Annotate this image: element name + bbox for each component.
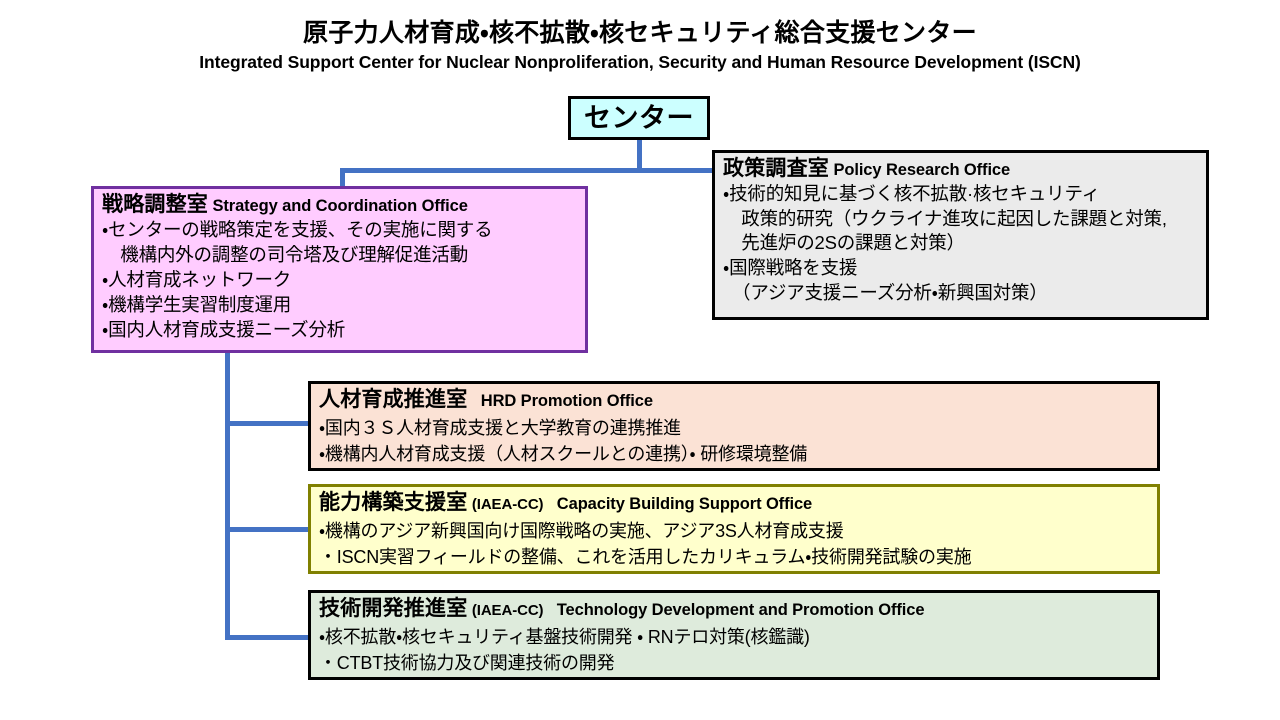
list-item: 政策的研究（ウクライナ進攻に起因した課題と対策, [723, 207, 1200, 232]
list-item: ・人材育成ネットワーク [102, 268, 579, 293]
node-policy-title-ja: 政策調査室 [723, 157, 829, 180]
node-hrd-title-en: HRD Promotion Office [481, 392, 653, 410]
node-policy-title-en: Policy Research Office [833, 161, 1010, 179]
node-hrd-promotion-office[interactable]: 人材育成推進室 HRD Promotion Office ・国内３Ｓ人材育成支援… [308, 381, 1160, 471]
node-capacity-building-support-office[interactable]: 能力構築支援室 (IAEA-CC) Capacity Building Supp… [308, 484, 1160, 574]
list-item: ・国内人材育成支援ニーズ分析 [102, 318, 579, 343]
connector-to-capacity [225, 527, 310, 532]
connector-to-tech [225, 635, 310, 640]
node-hrd-bullets: ・国内３Ｓ人材育成支援と大学教育の連携推進 ・機構内人材育成支援（人材スクールと… [319, 415, 1151, 467]
node-strategy-header: 戦略調整室 Strategy and Coordination Office [102, 193, 579, 217]
node-strategy-coordination-office[interactable]: 戦略調整室 Strategy and Coordination Office ・… [91, 186, 588, 353]
node-capacity-bullets: ・機構のアジア新興国向け国際戦略の実施、アジア3S人材育成支援 ・ISCN実習フ… [319, 518, 1151, 570]
node-strategy-title-en: Strategy and Coordination Office [212, 197, 467, 215]
list-item: ・核不拡散・核セキュリティ基盤技術開発 ・ RNテロ対策(核鑑識) [319, 624, 1151, 650]
node-technology-development-promotion-office[interactable]: 技術開発推進室 (IAEA-CC) Technology Development… [308, 590, 1160, 680]
node-strategy-bullets: ・センターの戦略策定を支援、その実施に関する 機構内外の調整の司令塔及び理解促進… [102, 218, 579, 343]
node-center[interactable]: センター [568, 96, 710, 140]
node-capacity-title-sub: (IAEA-CC) [472, 496, 544, 513]
node-capacity-header: 能力構築支援室 (IAEA-CC) Capacity Building Supp… [319, 491, 1151, 515]
list-item: ・機構内人材育成支援（人材スクールとの連携）・ 研修環境整備 [319, 441, 1151, 467]
connector-horizontal-spine [340, 168, 715, 173]
title-english: Integrated Support Center for Nuclear No… [0, 52, 1280, 74]
list-item: ・ISCN実習フィールドの整備、これを活用したカリキュラム・技術開発試験の実施 [319, 544, 1151, 570]
node-strategy-title-ja: 戦略調整室 [102, 193, 208, 216]
connector-trunk-vertical [225, 353, 230, 640]
node-capacity-title-ja: 能力構築支援室 [319, 491, 467, 514]
node-tech-bullets: ・核不拡散・核セキュリティ基盤技術開発 ・ RNテロ対策(核鑑識) ・CTBT技… [319, 624, 1151, 676]
node-tech-title-ja: 技術開発推進室 [319, 597, 467, 620]
chart-header: 原子力人材育成・核不拡散・核セキュリティ総合支援センター Integrated … [0, 18, 1280, 74]
list-item: ・機構のアジア新興国向け国際戦略の実施、アジア3S人材育成支援 [319, 518, 1151, 544]
node-policy-bullets: ・技術的知見に基づく核不拡散·核セキュリティ 政策的研究（ウクライナ進攻に起因し… [723, 182, 1200, 305]
list-item: 機構内外の調整の司令塔及び理解促進活動 [102, 243, 579, 268]
node-hrd-header: 人材育成推進室 HRD Promotion Office [319, 388, 1151, 412]
list-item: ・技術的知見に基づく核不拡散·核セキュリティ [723, 182, 1200, 207]
node-capacity-title-en: Capacity Building Support Office [557, 495, 812, 513]
list-item: ・CTBT技術協力及び関連技術の開発 [319, 650, 1151, 676]
node-hrd-title-ja: 人材育成推進室 [319, 388, 467, 411]
connector-to-hrd [225, 421, 310, 426]
node-tech-header: 技術開発推進室 (IAEA-CC) Technology Development… [319, 597, 1151, 621]
title-japanese: 原子力人材育成・核不拡散・核セキュリティ総合支援センター [0, 18, 1280, 48]
node-tech-title-sub: (IAEA-CC) [472, 602, 544, 619]
list-item: 先進炉の2Sの課題と対策） [723, 231, 1200, 256]
node-tech-title-en: Technology Development and Promotion Off… [557, 601, 925, 619]
list-item: ・センターの戦略策定を支援、その実施に関する [102, 218, 579, 243]
node-center-label: センター [584, 105, 694, 132]
node-policy-research-office[interactable]: 政策調査室 Policy Research Office ・技術的知見に基づく核… [712, 150, 1209, 320]
list-item: ・国際戦略を支援 [723, 256, 1200, 281]
list-item: ・国内３Ｓ人材育成支援と大学教育の連携推進 [319, 415, 1151, 441]
list-item: （アジア支援ニーズ分析・新興国対策） [723, 281, 1200, 306]
org-chart-canvas: 原子力人材育成・核不拡散・核セキュリティ総合支援センター Integrated … [0, 0, 1280, 720]
list-item: ・機構学生実習制度運用 [102, 293, 579, 318]
node-policy-header: 政策調査室 Policy Research Office [723, 157, 1200, 181]
